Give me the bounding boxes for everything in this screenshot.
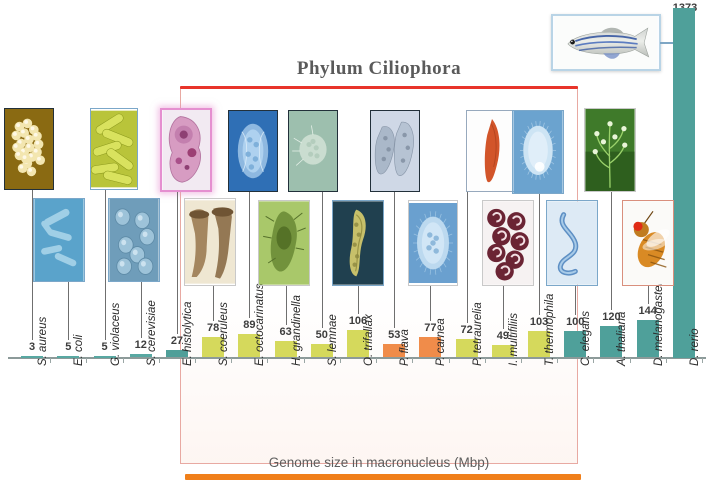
entamoeba-micrograph [160, 108, 212, 192]
leader-line [213, 286, 214, 321]
leader-line [249, 192, 250, 318]
axis-tick [376, 358, 377, 363]
zebrafish-callout-box [551, 14, 661, 71]
leader-line [68, 282, 69, 340]
axis-tick [485, 358, 486, 363]
leader-line [539, 194, 540, 315]
axis-tick [267, 358, 268, 363]
nematode-photo [546, 200, 598, 286]
axis-tick [593, 358, 594, 363]
bar-d-rerio [673, 8, 695, 358]
axis-tick [557, 358, 558, 363]
axis-tick [304, 358, 305, 363]
tetrahymena-micrograph [512, 110, 564, 194]
zebrafish-photo [553, 16, 659, 69]
axis-tick [630, 358, 631, 363]
leader-line [141, 282, 142, 338]
leader-line [358, 286, 359, 314]
axis-tick [702, 358, 703, 363]
stylonychia-micrograph [288, 110, 338, 192]
gloeobacter-micrograph [90, 108, 138, 190]
leader-line [394, 192, 395, 328]
phylum-rule [180, 86, 578, 89]
stentor-micrograph [184, 198, 236, 286]
leader-line [322, 192, 323, 328]
leader-line [648, 286, 649, 304]
leader-line [467, 192, 468, 323]
chart-caption: Genome size in macronucleus (Mbp) [180, 455, 578, 470]
axis-tick [195, 358, 196, 363]
paramecium-micrograph [466, 110, 518, 192]
axis-tick [50, 358, 51, 363]
leader-line [177, 192, 178, 334]
staphylococcus-micrograph [4, 108, 54, 190]
axis-label-g-violaceus: G. violaceus [110, 303, 122, 366]
axis-tick [159, 358, 160, 363]
axis-label-p-flava: P. flava [399, 329, 411, 366]
leader-line [611, 192, 612, 310]
axis-label-d-melanogaster: D. melanogaster [653, 282, 665, 366]
axis-label-e-octocarinatus: E. octocarinatus [254, 284, 266, 366]
axis-tick [666, 358, 667, 363]
leader-line [503, 286, 504, 329]
axis-label-s-coeruleus: S. coeruleus [218, 302, 230, 366]
ecoli-micrograph [33, 198, 85, 282]
leader-line [575, 286, 576, 315]
oxytricha-micrograph [332, 200, 384, 286]
fruitfly-photo [622, 200, 674, 286]
leader-line [430, 286, 431, 321]
axis-tick [449, 358, 450, 363]
axis-tick [231, 358, 232, 363]
yeast-micrograph [108, 198, 160, 282]
blepharisma-micrograph [408, 200, 458, 286]
caption-underline-bar [185, 474, 581, 480]
axis-tick [123, 358, 124, 363]
axis-label-t-thermophila: T. thermophila [544, 294, 556, 366]
page-title: Phylum Ciliophora [180, 58, 578, 80]
ichthyophthirius-micrograph [482, 200, 534, 286]
arabidopsis-photo [584, 108, 636, 192]
pseudokeronopsis-micrograph [370, 110, 420, 192]
axis-tick [412, 358, 413, 363]
leader-line [105, 190, 106, 340]
axis-tick [521, 358, 522, 363]
halteria-micrograph [258, 200, 310, 286]
euplotes-micrograph [228, 110, 278, 192]
axis-tick [340, 358, 341, 363]
axis-label-a-thaliana: A. thaliana [616, 312, 628, 366]
axis-label-d-rerio: D. rerio [689, 328, 701, 366]
axis-tick [86, 358, 87, 363]
axis-label-s-cerevisiae: S. cerevisiae [146, 300, 158, 366]
genome-size-figure: Phylum Ciliophora 1373 3S. aureus [0, 0, 708, 484]
leader-line [286, 286, 287, 325]
